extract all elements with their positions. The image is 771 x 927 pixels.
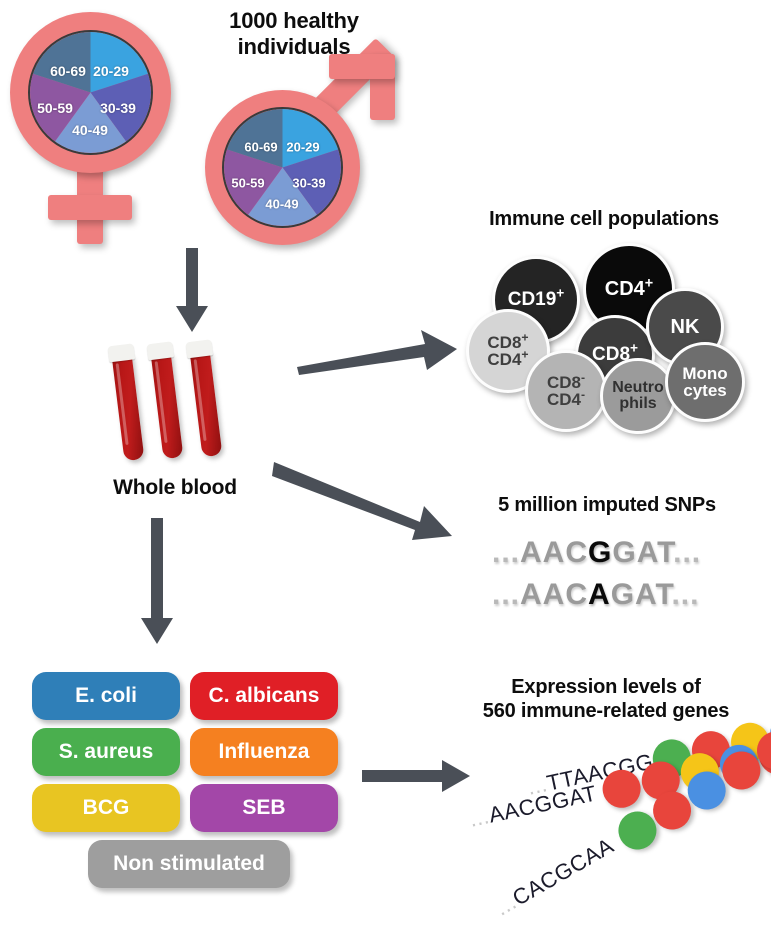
figure-canvas: 1000 healthy individuals 20-29 30-39 40-…: [0, 0, 771, 922]
rna-strand-sequence: ...CACGCAA: [491, 833, 618, 922]
rna-strand-group: ...TTAACGG...AACGGAT...CACGCAA: [0, 0, 771, 922]
rna-bead: [599, 766, 644, 811]
rna-strand-sequence: ...AACGGAT: [467, 781, 599, 833]
